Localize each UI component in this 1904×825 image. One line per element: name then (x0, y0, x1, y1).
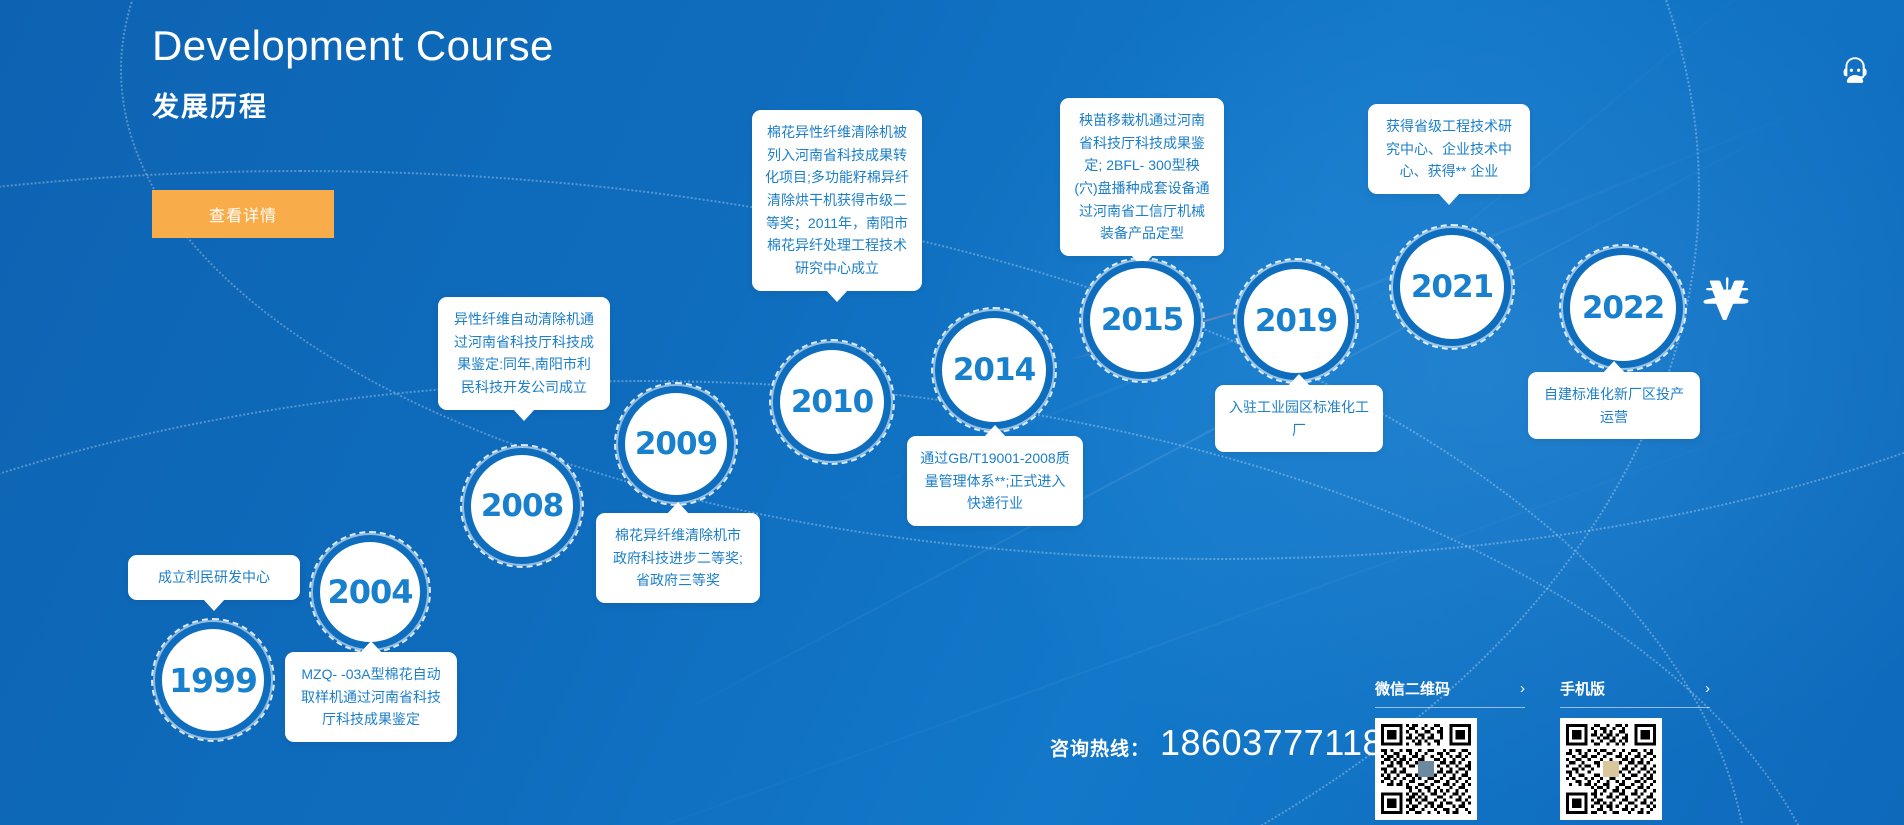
timeline-card-2019[interactable]: 入驻工业园区标准化工厂 (1215, 385, 1383, 452)
timeline-node-year: 2022 (1582, 290, 1664, 326)
chevron-right-icon: › (1705, 680, 1710, 697)
timeline-card-2022[interactable]: 自建标准化新厂区投产运营 (1528, 372, 1700, 439)
mobile-qr-header[interactable]: 手机版 › (1560, 678, 1710, 708)
timeline-card-text: 棉花异性纤维清除机被列入河南省科技成果转化项目;多功能籽棉异纤清除烘干机获得市级… (765, 124, 909, 276)
hotline-number: 18603777118 (1160, 722, 1383, 764)
timeline-card-text: 入驻工业园区标准化工厂 (1229, 399, 1369, 438)
timeline-card-2009[interactable]: 棉花异纤维清除机市政府科技进步二等奖;省政府三等奖 (596, 513, 760, 603)
timeline-card-text: MZQ- -03A型棉花自动取样机通过河南省科技厅科技成果鉴定 (301, 666, 441, 727)
card-pointer (984, 425, 1006, 437)
timeline-node-year: 2021 (1411, 269, 1493, 305)
timeline-node-2015[interactable]: 2015 (1090, 268, 1194, 372)
timeline-card-text: 通过GB/T19001-2008质量管理体系**;正式进入快递行业 (920, 450, 1069, 511)
timeline-card-text: 棉花异纤维清除机市政府科技进步二等奖;省政府三等奖 (613, 527, 743, 588)
timeline-node-2009[interactable]: 2009 (625, 393, 727, 495)
timeline-node-2010[interactable]: 2010 (780, 350, 884, 454)
timeline-node-1999[interactable]: 1999 (162, 629, 264, 731)
card-pointer (1288, 374, 1310, 386)
page-title-english: Development Course (152, 20, 554, 73)
card-pointer (1603, 361, 1625, 373)
view-details-button[interactable]: 查看详情 (152, 190, 334, 238)
timeline-card-2008[interactable]: 异性纤维自动清除机通过河南省科技厅科技成果鉴定:同年,南阳市利民科技开发公司成立 (438, 297, 610, 410)
page-title-chinese: 发展历程 (152, 85, 554, 124)
development-course-banner: Development Course 发展历程 查看详情 成立利民研发中心 19… (0, 0, 1904, 825)
timeline-node-year: 2004 (327, 573, 412, 611)
timeline-node-2004[interactable]: 2004 (320, 542, 420, 642)
customer-service-icon[interactable] (1832, 48, 1878, 94)
timeline-card-1999[interactable]: 成立利民研发中心 (128, 555, 300, 600)
timeline-node-2008[interactable]: 2008 (471, 455, 573, 557)
hotline-label: 咨询热线： (1050, 734, 1150, 761)
wechat-qr-header[interactable]: 微信二维码 › (1375, 678, 1525, 708)
timeline-card-text: 成立利民研发中心 (158, 569, 270, 585)
airplane-icon (1700, 272, 1756, 320)
timeline-node-2021[interactable]: 2021 (1400, 235, 1504, 339)
mobile-qr-block: 手机版 › (1560, 678, 1710, 820)
card-pointer (203, 599, 225, 611)
timeline-node-year: 2009 (635, 426, 717, 462)
timeline-card-2015[interactable]: 秧苗移栽机通过河南省科技厅科技成果鉴定; 2BFL- 300型秧(穴)盘播种成套… (1060, 98, 1224, 256)
page-title: Development Course 发展历程 (152, 20, 554, 124)
timeline-node-2022[interactable]: 2022 (1570, 255, 1676, 361)
timeline-node-year: 1999 (169, 661, 257, 700)
timeline-node-year: 2008 (481, 488, 563, 524)
card-pointer (826, 290, 848, 302)
timeline-node-2019[interactable]: 2019 (1244, 269, 1348, 373)
timeline-card-2021[interactable]: 获得省级工程技术研究中心、企业技术中心、获得** 企业 (1368, 104, 1530, 194)
mobile-qr-image[interactable] (1560, 718, 1662, 820)
timeline-card-text: 自建标准化新厂区投产运营 (1544, 386, 1684, 425)
card-pointer (513, 409, 535, 421)
chevron-right-icon: › (1520, 680, 1525, 697)
timeline-node-year: 2014 (953, 352, 1035, 388)
timeline-card-text: 异性纤维自动清除机通过河南省科技厅科技成果鉴定:同年,南阳市利民科技开发公司成立 (454, 311, 594, 395)
timeline-node-year: 2010 (791, 384, 873, 420)
hotline: 咨询热线： 18603777118 (1050, 722, 1383, 764)
timeline-node-2014[interactable]: 2014 (942, 318, 1046, 422)
card-pointer (667, 502, 689, 514)
timeline-card-2014[interactable]: 通过GB/T19001-2008质量管理体系**;正式进入快递行业 (907, 436, 1083, 526)
wechat-qr-block: 微信二维码 › (1375, 678, 1525, 820)
timeline-node-year: 2019 (1255, 303, 1337, 339)
timeline-card-text: 获得省级工程技术研究中心、企业技术中心、获得** 企业 (1386, 118, 1512, 179)
timeline-node-year: 2015 (1101, 302, 1183, 338)
mobile-qr-label: 手机版 (1560, 678, 1605, 699)
timeline-card-2010[interactable]: 棉花异性纤维清除机被列入河南省科技成果转化项目;多功能籽棉异纤清除烘干机获得市级… (752, 110, 922, 291)
card-pointer (1438, 193, 1460, 205)
card-pointer (360, 641, 382, 653)
timeline-card-text: 秧苗移栽机通过河南省科技厅科技成果鉴定; 2BFL- 300型秧(穴)盘播种成套… (1074, 112, 1209, 241)
wechat-qr-image[interactable] (1375, 718, 1477, 820)
timeline-card-2004[interactable]: MZQ- -03A型棉花自动取样机通过河南省科技厅科技成果鉴定 (285, 652, 457, 742)
wechat-qr-label: 微信二维码 (1375, 678, 1450, 699)
